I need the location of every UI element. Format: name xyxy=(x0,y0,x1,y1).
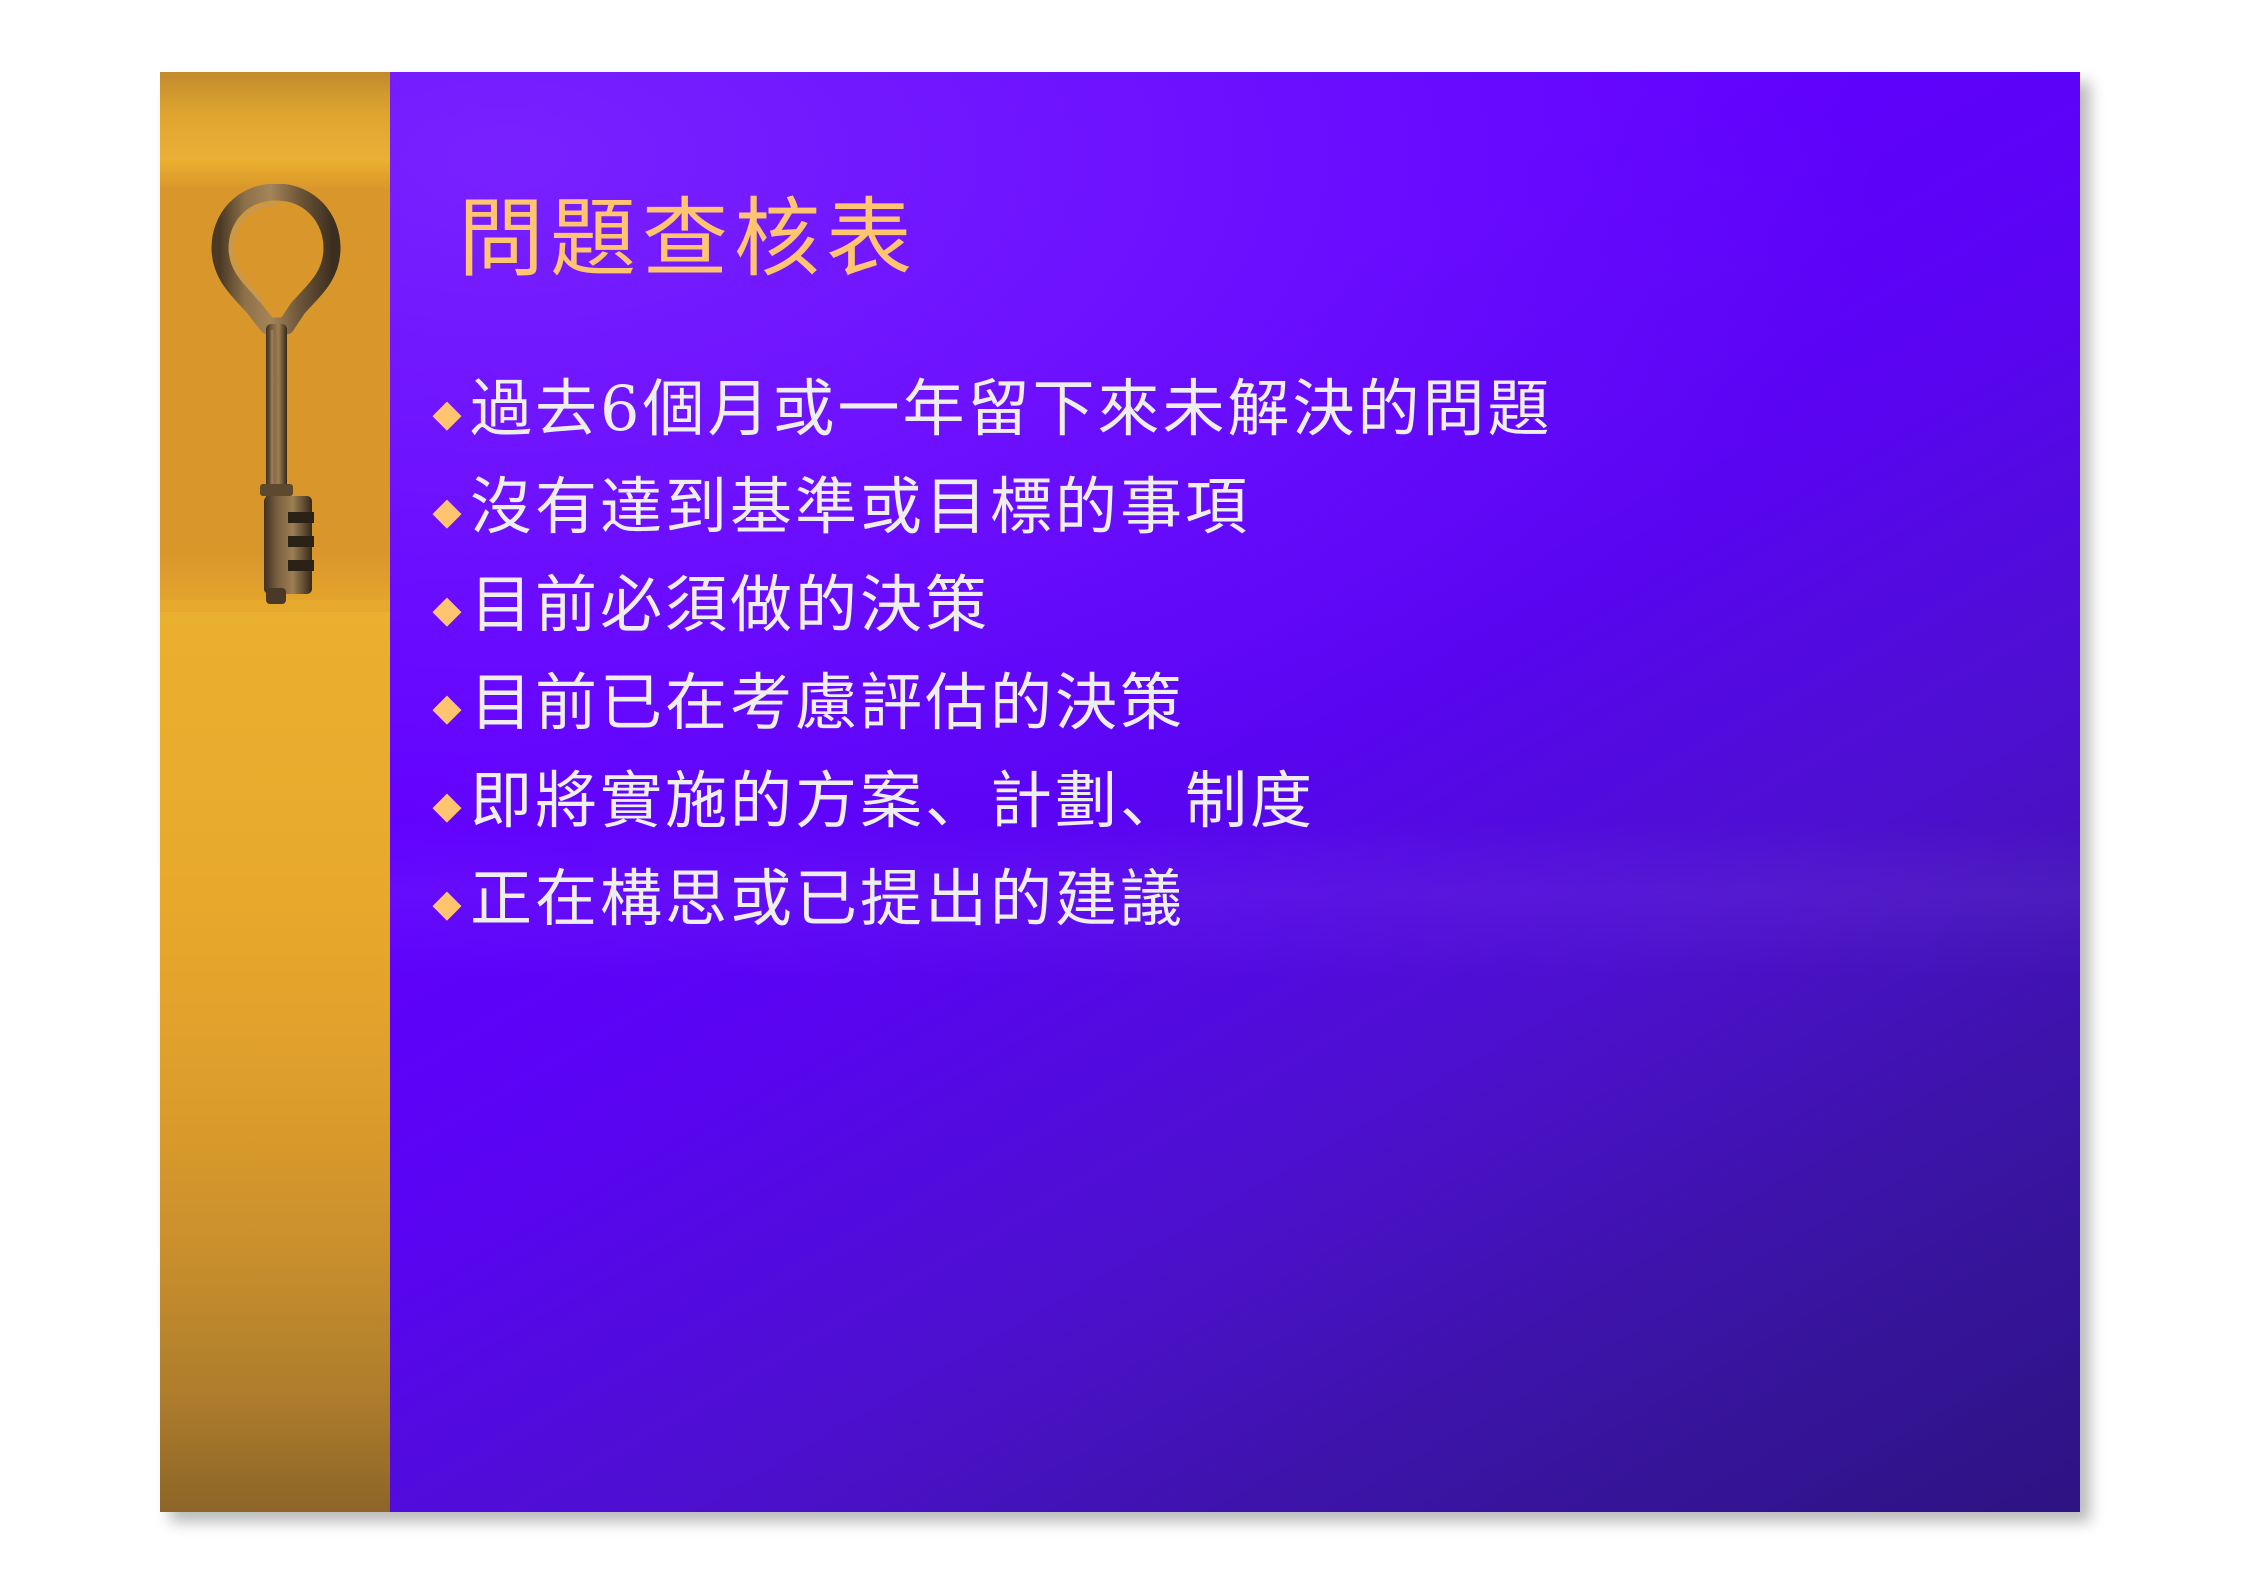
diamond-bullet-icon: ◆ xyxy=(424,590,470,628)
diamond-bullet-icon: ◆ xyxy=(424,492,470,530)
list-item: ◆ 過去6個月或一年留下來未解決的問題 xyxy=(424,372,2070,450)
diamond-bullet-icon: ◆ xyxy=(424,688,470,726)
sidebar-decoration xyxy=(160,72,390,1512)
list-item-label: 過去6個月或一年留下來未解決的問題 xyxy=(470,372,2070,446)
list-item-label: 沒有達到基準或目標的事項 xyxy=(470,470,2070,544)
list-item-label: 目前已在考慮評估的決策 xyxy=(470,666,2070,740)
list-item: ◆ 目前必須做的決策 xyxy=(424,568,2070,646)
list-item: ◆ 目前已在考慮評估的決策 xyxy=(424,666,2070,744)
slide: 問題查核表 ◆ 過去6個月或一年留下來未解決的問題 ◆ 沒有達到基準或目標的事項… xyxy=(160,72,2080,1512)
list-item-label: 即將實施的方案、計劃、制度 xyxy=(470,764,2070,838)
diamond-bullet-icon: ◆ xyxy=(424,884,470,922)
list-item-label: 目前必須做的決策 xyxy=(470,568,2070,642)
page-title: 問題查核表 xyxy=(458,194,918,284)
slide-content: 問題查核表 ◆ 過去6個月或一年留下來未解決的問題 ◆ 沒有達到基準或目標的事項… xyxy=(396,72,2080,1512)
antique-key-icon xyxy=(202,184,350,614)
diamond-bullet-icon: ◆ xyxy=(424,394,470,432)
list-item-label: 正在構思或已提出的建議 xyxy=(470,862,2070,936)
diamond-bullet-icon: ◆ xyxy=(424,786,470,824)
list-item: ◆ 即將實施的方案、計劃、制度 xyxy=(424,764,2070,842)
list-item: ◆ 沒有達到基準或目標的事項 xyxy=(424,470,2070,548)
list-item: ◆ 正在構思或已提出的建議 xyxy=(424,862,2070,940)
bullet-list: ◆ 過去6個月或一年留下來未解決的問題 ◆ 沒有達到基準或目標的事項 ◆ 目前必… xyxy=(424,372,2070,960)
